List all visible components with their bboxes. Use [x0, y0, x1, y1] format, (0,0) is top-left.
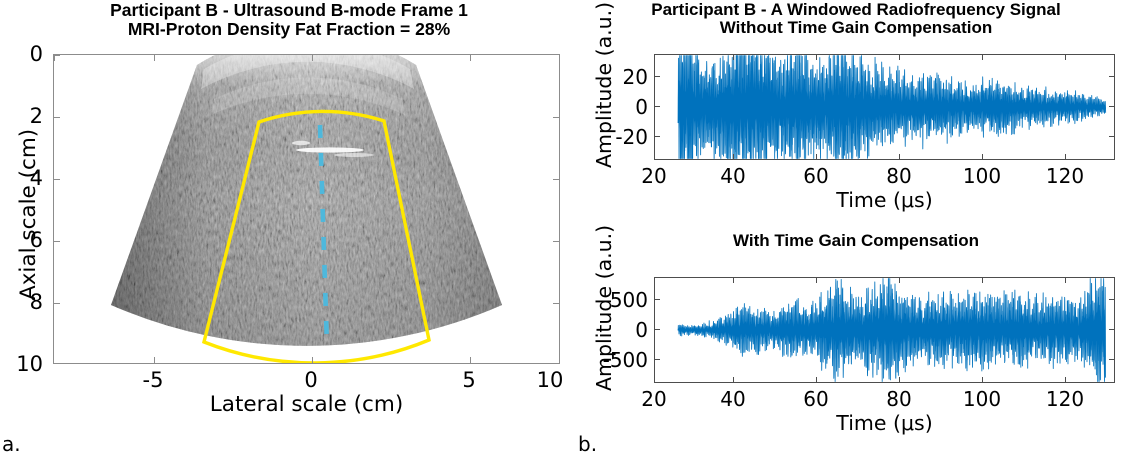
rf-top-x-tick-40: 40	[720, 164, 745, 188]
rf-bot-y-axis-label: Amplitude (a.u.)	[592, 225, 616, 391]
panel-b-top-title-line1: Participant B - A Windowed Radiofrequenc…	[576, 1, 1134, 19]
rf-bot-x-tick-60: 60	[803, 387, 828, 411]
rf-top-y-axis-label: Amplitude (a.u.)	[592, 2, 616, 168]
panel-b-bottom-title: With Time Gain Compensation	[578, 232, 1134, 250]
rf-top-x-tick-60: 60	[803, 164, 828, 188]
ultrasound-bmode-image[interactable]	[53, 54, 560, 364]
rf-bot-x-tick-80: 80	[886, 387, 911, 411]
panel-a-y-axis-label: Axial scale (cm)	[16, 129, 41, 300]
panel-b-rf-signals: Participant B - A Windowed Radiofrequenc…	[578, 0, 1134, 457]
rf-top-x-axis-label: Time (μs)	[654, 188, 1115, 212]
panel-a-title-line2: MRI-Proton Density Fat Fraction = 28%	[0, 20, 578, 39]
panel-a-x-axis-label: Lateral scale (cm)	[53, 392, 560, 417]
panel-a-title-line1: Participant B - Ultrasound B-mode Frame …	[0, 1, 578, 20]
y-tick-0: 0	[30, 42, 43, 66]
y-tick-10: 10	[16, 352, 43, 376]
rf-plot-with-tgc[interactable]	[654, 277, 1115, 383]
rf-top-x-tick-100: 100	[963, 164, 1001, 188]
x-tick-5: 5	[462, 368, 475, 392]
x-tick-neg5: -5	[143, 368, 164, 392]
panel-b-label: b.	[578, 432, 597, 456]
rf-top-x-tick-120: 120	[1046, 164, 1084, 188]
panel-a-title: Participant B - Ultrasound B-mode Frame …	[0, 1, 578, 39]
panel-a-ultrasound: Participant B - Ultrasound B-mode Frame …	[0, 0, 578, 457]
x-tick-10: 10	[537, 368, 564, 392]
panel-b-top-title: Participant B - A Windowed Radiofrequenc…	[576, 1, 1134, 38]
rf-bot-x-axis-label: Time (μs)	[654, 411, 1115, 435]
rf-top-x-tick-20: 20	[641, 164, 666, 188]
rf-bot-x-tick-120: 120	[1046, 387, 1084, 411]
x-tick-0: 0	[304, 368, 317, 392]
rf-bot-x-tick-40: 40	[720, 387, 745, 411]
rf-top-x-tick-80: 80	[886, 164, 911, 188]
y-tick-2: 2	[30, 104, 43, 128]
rf-bot-x-tick-100: 100	[963, 387, 1001, 411]
rf-bot-x-tick-20: 20	[641, 387, 666, 411]
panel-a-label: a.	[2, 432, 21, 456]
panel-b-top-title-line2: Without Time Gain Compensation	[576, 19, 1134, 37]
rf-plot-without-tgc[interactable]	[654, 54, 1115, 160]
